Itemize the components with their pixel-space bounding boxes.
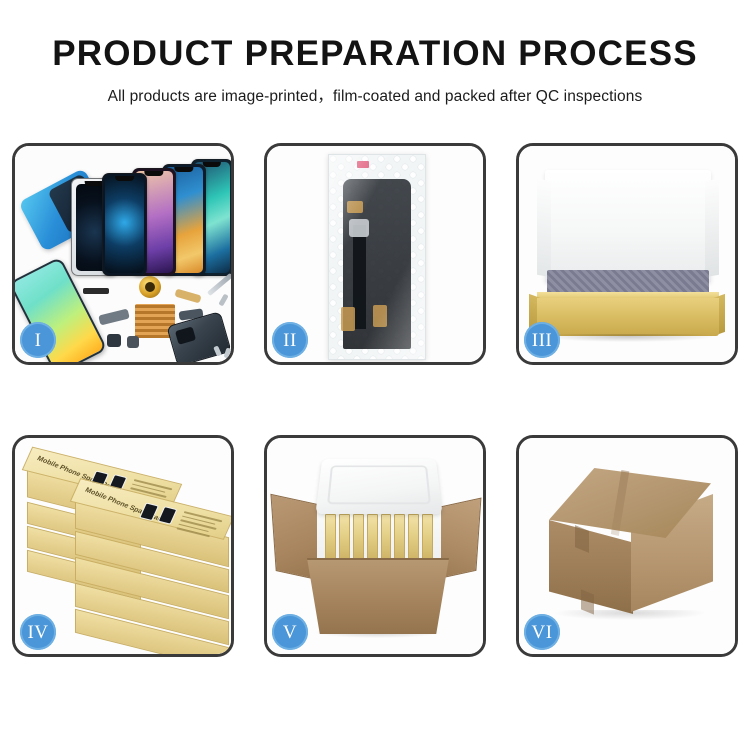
back-housing-icon: [166, 311, 231, 365]
carton-body: [307, 558, 449, 634]
header: PRODUCT PREPARATION PROCESS All products…: [0, 0, 750, 106]
process-step-panel-2[interactable]: II: [264, 143, 486, 365]
adhesive-tape-icon: [341, 307, 355, 331]
process-step-panel-3[interactable]: III: [516, 143, 738, 365]
qc-label-icon: [357, 161, 369, 168]
adhesive-tape-icon: [373, 305, 387, 327]
gold-box-stack: Mobile Phone Spare Parts: [19, 456, 233, 646]
process-step-panel-4[interactable]: Mobile Phone Spare Parts: [12, 435, 234, 657]
vibration-motor-icon: [139, 276, 161, 298]
foam-box-lid-icon: [315, 459, 442, 514]
adhesive-tape-icon: [347, 201, 363, 213]
camera-module-icon: [107, 334, 121, 347]
page-subtitle: All products are image-printed，film-coat…: [0, 84, 750, 106]
flex-cable-icon: [98, 309, 130, 326]
step-badge-4: IV: [20, 614, 56, 650]
bubble-wrap-package: [328, 154, 426, 360]
step-badge-6: VI: [524, 614, 560, 650]
step-badge-3: III: [524, 322, 560, 358]
white-foam-lid-icon: [545, 170, 711, 282]
button-part-icon: [127, 336, 139, 348]
step-badge-2: II: [272, 322, 308, 358]
step-badge-5: V: [272, 614, 308, 650]
process-step-panel-6[interactable]: VI: [516, 435, 738, 657]
flex-cable-icon: [174, 289, 201, 304]
lcd-connector-icon: [349, 219, 369, 237]
screw-icon: [218, 294, 228, 307]
process-step-panel-5[interactable]: V: [264, 435, 486, 657]
tweezers-icon: [207, 273, 233, 296]
gold-boxes-inside: [325, 514, 433, 562]
product-preparation-infographic: PRODUCT PREPARATION PROCESS All products…: [0, 0, 750, 750]
process-step-grid: I II: [12, 143, 738, 657]
speaker-part-icon: [83, 288, 109, 294]
page-title: PRODUCT PREPARATION PROCESS: [0, 36, 750, 73]
process-step-panel-1[interactable]: I: [12, 143, 234, 365]
phone-screen-fan: [71, 164, 231, 276]
step-badge-1: I: [20, 322, 56, 358]
gold-box-front: [537, 298, 719, 336]
